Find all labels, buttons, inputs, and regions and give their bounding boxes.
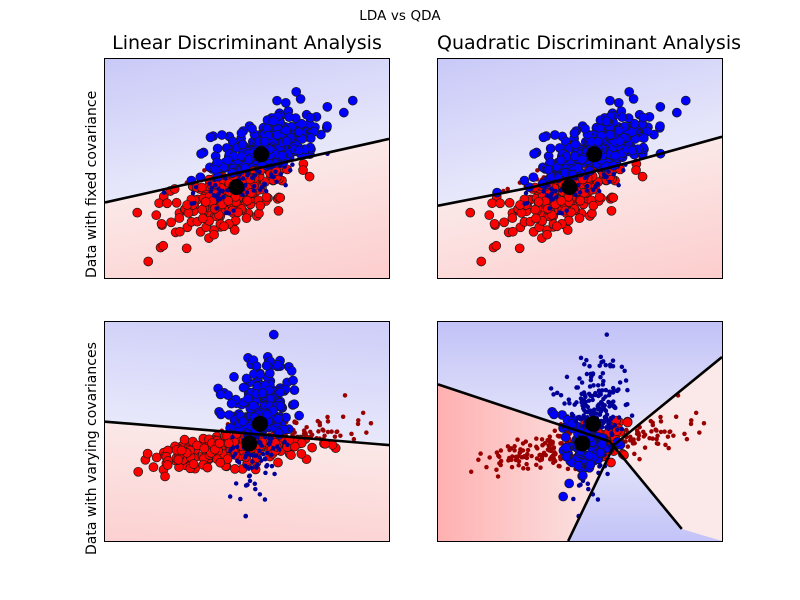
figure-suptitle: LDA vs QDA — [0, 8, 800, 24]
plot-axes-lda-varying[interactable] — [104, 321, 390, 542]
panel-title-lda: Linear Discriminant Analysis — [104, 32, 390, 54]
plot-axes-qda-fixed[interactable] — [437, 58, 723, 279]
plot-axes-lda-fixed[interactable] — [104, 58, 390, 279]
panel-title-qda: Quadratic Discriminant Analysis — [437, 32, 723, 54]
row-label-varying-covariances: Data with varying covariances — [84, 342, 100, 555]
figure-canvas: LDA vs QDA Linear Discriminant Analysis … — [0, 0, 800, 600]
plot-axes-qda-varying[interactable] — [437, 321, 723, 542]
row-label-fixed-covariance: Data with fixed covariance — [84, 91, 100, 278]
